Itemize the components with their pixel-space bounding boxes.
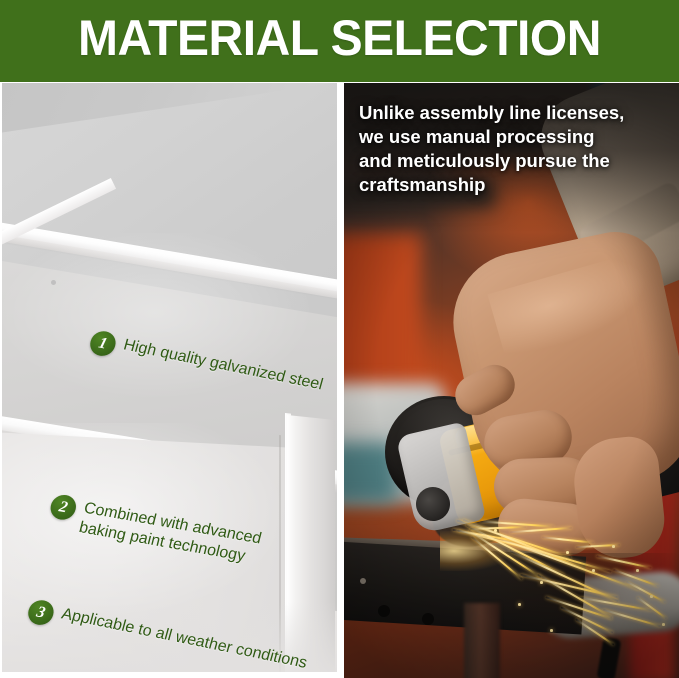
- photo-caption: Unlike assembly line licenses, we use ma…: [359, 101, 629, 197]
- bullet-number-1: 1: [87, 329, 118, 358]
- material-selection-infographic: MATERIAL SELECTION 1 High quality galvan…: [0, 0, 679, 678]
- left-panel: 1 High quality galvanized steel 2 Combin…: [0, 83, 339, 678]
- cabinet-product-photo: 1 High quality galvanized steel 2 Combin…: [2, 83, 337, 672]
- page-title: MATERIAL SELECTION: [14, 8, 666, 68]
- right-panel: Unlike assembly line licenses, we use ma…: [344, 83, 679, 678]
- workshop-photo: Unlike assembly line licenses, we use ma…: [344, 83, 679, 678]
- bullet-number-3: 3: [25, 598, 56, 627]
- surface-speck: [51, 280, 56, 285]
- bullet-number-2: 2: [48, 493, 79, 522]
- header-banner: MATERIAL SELECTION: [0, 0, 679, 82]
- cabinet-lid-sheen: [2, 233, 337, 433]
